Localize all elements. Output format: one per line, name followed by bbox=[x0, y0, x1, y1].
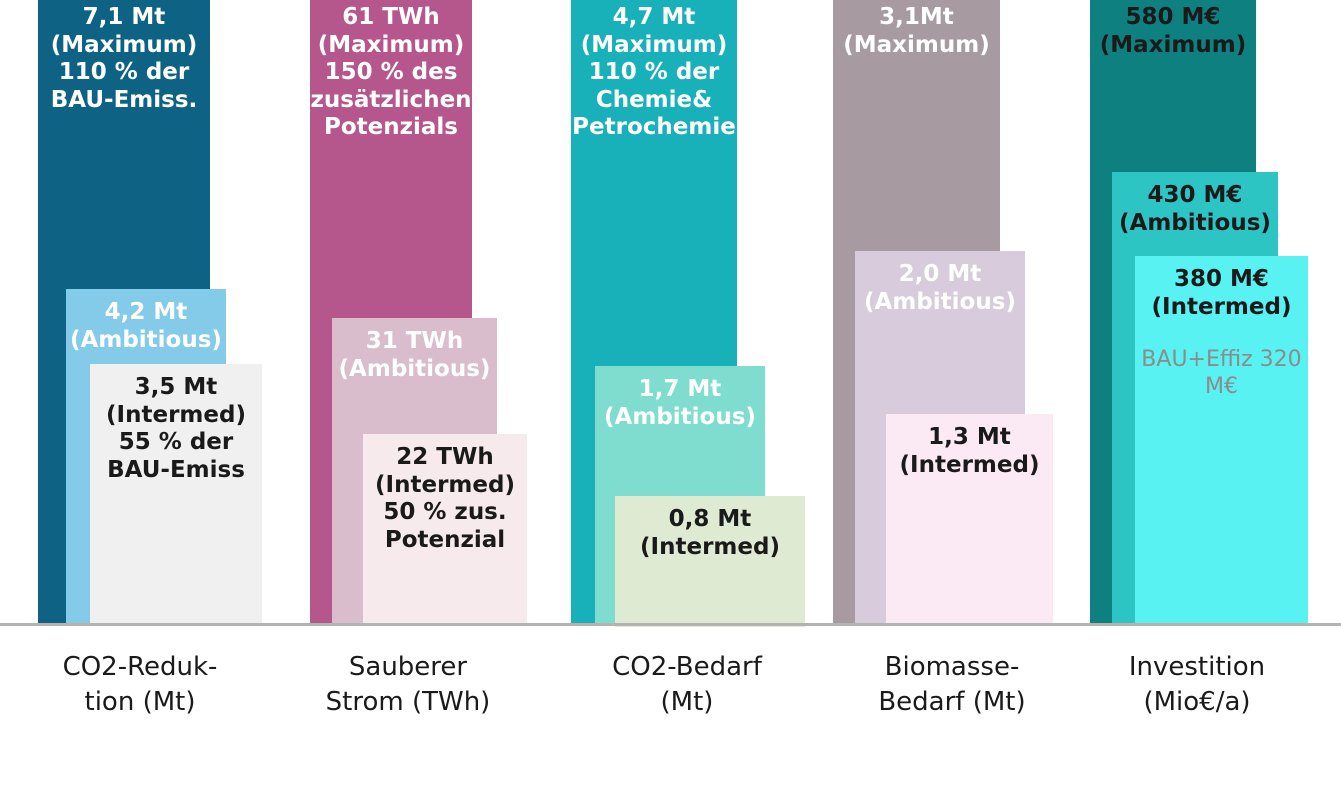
bar-label-sauberer-strom-max: 61 TWh (Maximum) 150 % des zusätzlichen … bbox=[310, 0, 472, 142]
bar-label-investition-intermediate: 380 M€ (Intermed) bbox=[1135, 256, 1308, 321]
bar-sauberer-strom-intermediate[interactable]: 22 TWh (Intermed) 50 % zus. Potenzial bbox=[363, 434, 527, 623]
bar-co2-bedarf-intermediate[interactable]: 0,8 Mt (Intermed) bbox=[615, 496, 805, 627]
x-label-biomasse-bedarf: Biomasse- Bedarf (Mt) bbox=[832, 650, 1072, 720]
x-label-investition: Investition (Mio€/a) bbox=[1077, 650, 1317, 720]
x-axis-labels: CO2-Reduk- tion (Mt) Sauberer Strom (TWh… bbox=[0, 640, 1341, 750]
x-label-sauberer-strom: Sauberer Strom (TWh) bbox=[288, 650, 528, 720]
bar-co2-reduktion-intermediate[interactable]: 3,5 Mt (Intermed) 55 % der BAU-Emiss bbox=[90, 364, 262, 623]
bar-label-biomasse-bedarf-intermediate: 1,3 Mt (Intermed) bbox=[886, 414, 1053, 479]
stacked-scenario-bar-chart: 7,1 Mt (Maximum) 110 % der BAU-Emiss. 4,… bbox=[0, 0, 1341, 792]
x-axis-line bbox=[0, 623, 1341, 626]
bar-note-investition-bau-effiz: BAU+Effiz 320 M€ bbox=[1135, 321, 1308, 400]
bar-label-sauberer-strom-ambitious: 31 TWh (Ambitious) bbox=[332, 318, 497, 383]
bar-label-investition-ambitious: 430 M€ (Ambitious) bbox=[1112, 172, 1278, 237]
bar-investition-intermediate[interactable]: 380 M€ (Intermed) BAU+Effiz 320 M€ bbox=[1135, 256, 1308, 623]
plot-area: 7,1 Mt (Maximum) 110 % der BAU-Emiss. 4,… bbox=[0, 0, 1341, 623]
bar-label-investition-max: 580 M€ (Maximum) bbox=[1090, 0, 1256, 59]
bar-label-sauberer-strom-intermediate: 22 TWh (Intermed) 50 % zus. Potenzial bbox=[363, 434, 527, 554]
bar-label-co2-reduktion-ambitious: 4,2 Mt (Ambitious) bbox=[66, 289, 226, 354]
bar-label-biomasse-bedarf-max: 3,1Mt (Maximum) bbox=[833, 0, 1000, 59]
x-label-co2-reduktion: CO2-Reduk- tion (Mt) bbox=[20, 650, 260, 720]
bar-label-co2-bedarf-intermediate: 0,8 Mt (Intermed) bbox=[615, 496, 805, 561]
bar-label-biomasse-bedarf-ambitious: 2,0 Mt (Ambitious) bbox=[855, 251, 1025, 316]
bar-label-co2-bedarf-ambitious: 1,7 Mt (Ambitious) bbox=[595, 366, 765, 431]
x-label-co2-bedarf: CO2-Bedarf (Mt) bbox=[567, 650, 807, 720]
bar-biomasse-bedarf-intermediate[interactable]: 1,3 Mt (Intermed) bbox=[886, 414, 1053, 623]
bar-label-co2-reduktion-intermediate: 3,5 Mt (Intermed) 55 % der BAU-Emiss bbox=[90, 364, 262, 484]
bar-label-co2-bedarf-max: 4,7 Mt (Maximum) 110 % der Chemie& Petro… bbox=[571, 0, 737, 142]
bar-label-co2-reduktion-max: 7,1 Mt (Maximum) 110 % der BAU-Emiss. bbox=[38, 0, 210, 114]
